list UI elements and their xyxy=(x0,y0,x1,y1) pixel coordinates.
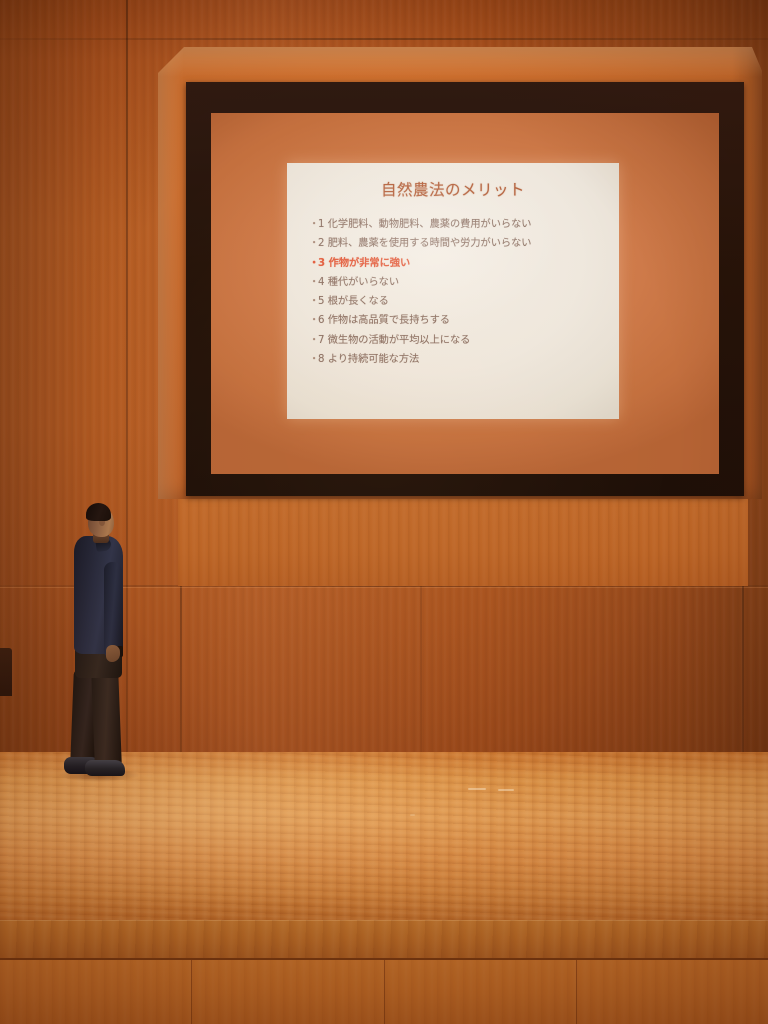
presenter-arm xyxy=(104,562,122,658)
apron-panel xyxy=(0,960,192,1024)
slide-bullet-text: 1 化学肥料、動物肥料、農薬の費用がいらない xyxy=(318,215,531,234)
slide-bullet-text: 8 より持続可能な方法 xyxy=(318,350,419,369)
bullet-marker-icon: ・ xyxy=(309,234,318,253)
apron-panel xyxy=(577,960,768,1024)
slide-bullet-text: 5 根が長くなる xyxy=(318,292,389,311)
floor-speck xyxy=(468,788,486,790)
bullet-marker-icon: ・ xyxy=(309,331,318,350)
stage-apron-panels xyxy=(0,958,768,1024)
slide-bullet-text: 4 種代がいらない xyxy=(318,273,399,292)
slide-bullet-list: ・1 化学肥料、動物肥料、農薬の費用がいらない・2 肥料、農薬を使用する時間や労… xyxy=(309,215,611,369)
slide-bullet-6: ・6 作物は高品質で長持ちする xyxy=(309,311,611,330)
presentation-photo-scene: 自然農法のメリット ・1 化学肥料、動物肥料、農薬の費用がいらない・2 肥料、農… xyxy=(0,0,768,1024)
slide-bullet-text: 6 作物は高品質で長持ちする xyxy=(318,311,450,330)
floor-speck xyxy=(498,789,514,791)
bullet-marker-icon: ・ xyxy=(309,350,318,369)
slide-bullet-8: ・8 より持続可能な方法 xyxy=(309,350,611,369)
apron-panel xyxy=(192,960,384,1024)
slide-bullet-4: ・4 種代がいらない xyxy=(309,273,611,292)
wall-seam-horizontal-top xyxy=(0,38,768,40)
edge-woodgrain-texture xyxy=(0,920,768,958)
presenter-hair xyxy=(86,503,111,521)
slide-bullet-text: 2 肥料、農薬を使用する時間や労力がいらない xyxy=(318,234,531,253)
floor-speck xyxy=(410,814,415,816)
wall-panel-below-screen xyxy=(178,496,748,586)
slide-bullet-5: ・5 根が長くなる xyxy=(309,292,611,311)
slide-bullet-2: ・2 肥料、農薬を使用する時間や労力がいらない xyxy=(309,234,611,253)
stage-equipment-left-edge xyxy=(0,648,12,696)
projected-slide: 自然農法のメリット ・1 化学肥料、動物肥料、農薬の費用がいらない・2 肥料、農… xyxy=(287,163,619,419)
slide-bullet-text: 7 微生物の活動が平均以上になる xyxy=(318,331,470,350)
bullet-marker-icon: ・ xyxy=(309,254,318,273)
bullet-marker-icon: ・ xyxy=(309,273,318,292)
presenter-leg-front xyxy=(91,670,122,767)
slide-bullet-1: ・1 化学肥料、動物肥料、農薬の費用がいらない xyxy=(309,215,611,234)
slide-bullet-3: ・3 作物が非常に強い xyxy=(309,254,611,273)
apron-panel xyxy=(385,960,577,1024)
slide-bullet-7: ・7 微生物の活動が平均以上になる xyxy=(309,331,611,350)
bullet-marker-icon: ・ xyxy=(309,292,318,311)
stage-front-edge xyxy=(0,920,768,958)
slide-title: 自然農法のメリット xyxy=(287,178,619,200)
presenter-shoe-front xyxy=(85,760,125,776)
panel-woodgrain-texture xyxy=(178,496,748,586)
bullet-marker-icon: ・ xyxy=(309,311,318,330)
slide-bullet-text: 3 作物が非常に強い xyxy=(318,254,410,273)
bullet-marker-icon: ・ xyxy=(309,215,318,234)
wall-seam-vertical-left xyxy=(126,0,128,760)
